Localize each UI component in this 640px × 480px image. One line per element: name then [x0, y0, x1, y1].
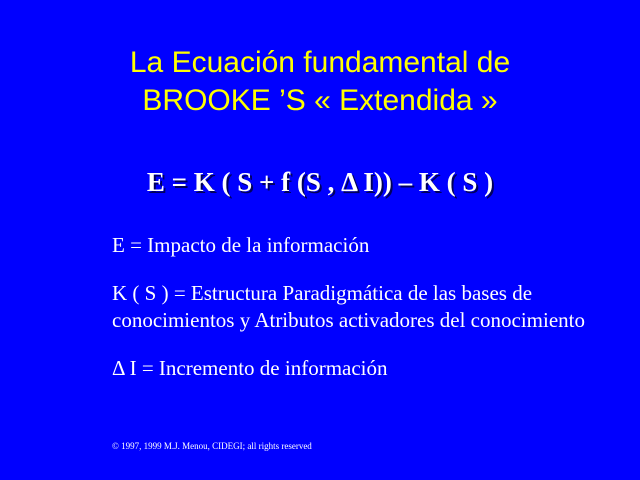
definitions-list: E = Impacto de la información K ( S ) = …: [112, 232, 612, 382]
definition-e: E = Impacto de la información: [112, 232, 612, 259]
title-line-2: BROOKE ’S « Extendida »: [0, 82, 640, 120]
brooke-equation: E = K ( S + f (S , Δ I)) – K ( S ): [0, 166, 640, 198]
title-line-1: La Ecuación fundamental de: [0, 44, 640, 82]
copyright-notice: © 1997, 1999 M.J. Menou, CIDEGI; all rig…: [112, 440, 312, 452]
slide-title: La Ecuación fundamental de BROOKE ’S « E…: [0, 44, 640, 120]
definition-delta-i: Δ I = Incremento de información: [112, 355, 612, 382]
slide-canvas: La Ecuación fundamental de BROOKE ’S « E…: [0, 0, 640, 480]
definition-ks: K ( S ) = Estructura Paradigmática de la…: [112, 280, 612, 334]
